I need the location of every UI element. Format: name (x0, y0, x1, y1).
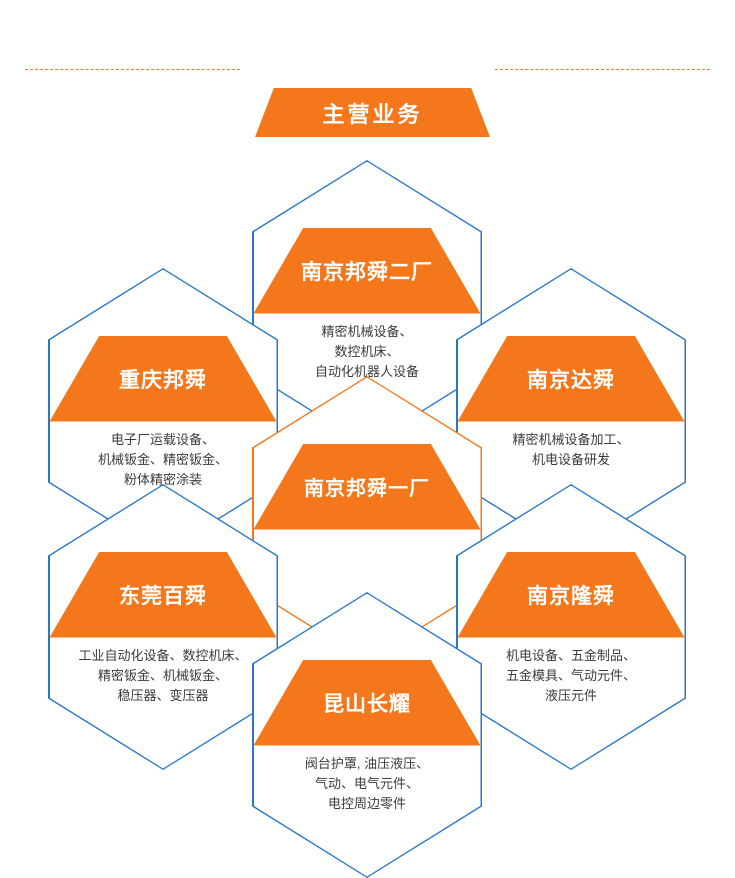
hex-title: 南京达舜 (527, 364, 615, 394)
hex-title: 昆山长耀 (323, 688, 411, 718)
hex-title: 南京隆舜 (527, 580, 615, 610)
hex-cap: 南京达舜 (458, 336, 685, 422)
hex-description: 精密机械设备、 数控机床、 自动化机器人设备 (268, 322, 467, 382)
hex-title: 东莞百舜 (119, 580, 207, 610)
header-section: 主营业务 (0, 40, 735, 100)
hex-cell-right-lower[interactable]: 南京隆舜 机电设备、五金制品、 五金模具、气动元件、 液压元件 (456, 484, 686, 770)
hex-title: 南京邦舜一厂 (304, 472, 430, 501)
hex-cap: 重庆邦舜 (50, 336, 277, 422)
hex-cell-bottom[interactable]: 昆山长耀 阀台护罩, 油压液压、 气动、电气元件、 电控周边零件 (252, 592, 482, 878)
hex-cap: 昆山长耀 (254, 660, 481, 746)
hex-description: 机电设备、五金制品、 五金模具、气动元件、 液压元件 (472, 646, 671, 706)
hex-description: 精密机械设备加工、 机电设备研发 (472, 430, 671, 470)
hex-cap: 东莞百舜 (50, 552, 277, 638)
hex-body: 南京隆舜 机电设备、五金制品、 五金模具、气动元件、 液压元件 (458, 486, 685, 769)
header-divider-right (495, 69, 710, 70)
hex-cap: 南京邦舜二厂 (254, 228, 481, 314)
section-title-banner: 主营业务 (255, 88, 490, 137)
hex-description: 工业自动化设备、数控机床、 精密钣金、机械钣金、 稳压器、变压器 (64, 646, 263, 706)
hex-description: 阀台护罩, 油压液压、 气动、电气元件、 电控周边零件 (268, 754, 467, 814)
hex-cell-left-lower[interactable]: 东莞百舜 工业自动化设备、数控机床、 精密钣金、机械钣金、 稳压器、变压器 (48, 484, 278, 770)
hex-cap: 南京隆舜 (458, 552, 685, 638)
hex-body: 昆山长耀 阀台护罩, 油压液压、 气动、电气元件、 电控周边零件 (254, 594, 481, 877)
hex-title: 重庆邦舜 (119, 364, 207, 394)
hex-title: 南京邦舜二厂 (301, 256, 433, 286)
header-divider-left (25, 69, 240, 70)
hex-body: 东莞百舜 工业自动化设备、数控机床、 精密钣金、机械钣金、 稳压器、变压器 (50, 486, 277, 769)
hex-description: 电子厂运载设备、 机械钣金、精密钣金、 粉体精密涂装 (64, 430, 263, 490)
hex-cap: 南京邦舜一厂 (254, 444, 481, 530)
page-title: 主营业务 (322, 97, 422, 129)
